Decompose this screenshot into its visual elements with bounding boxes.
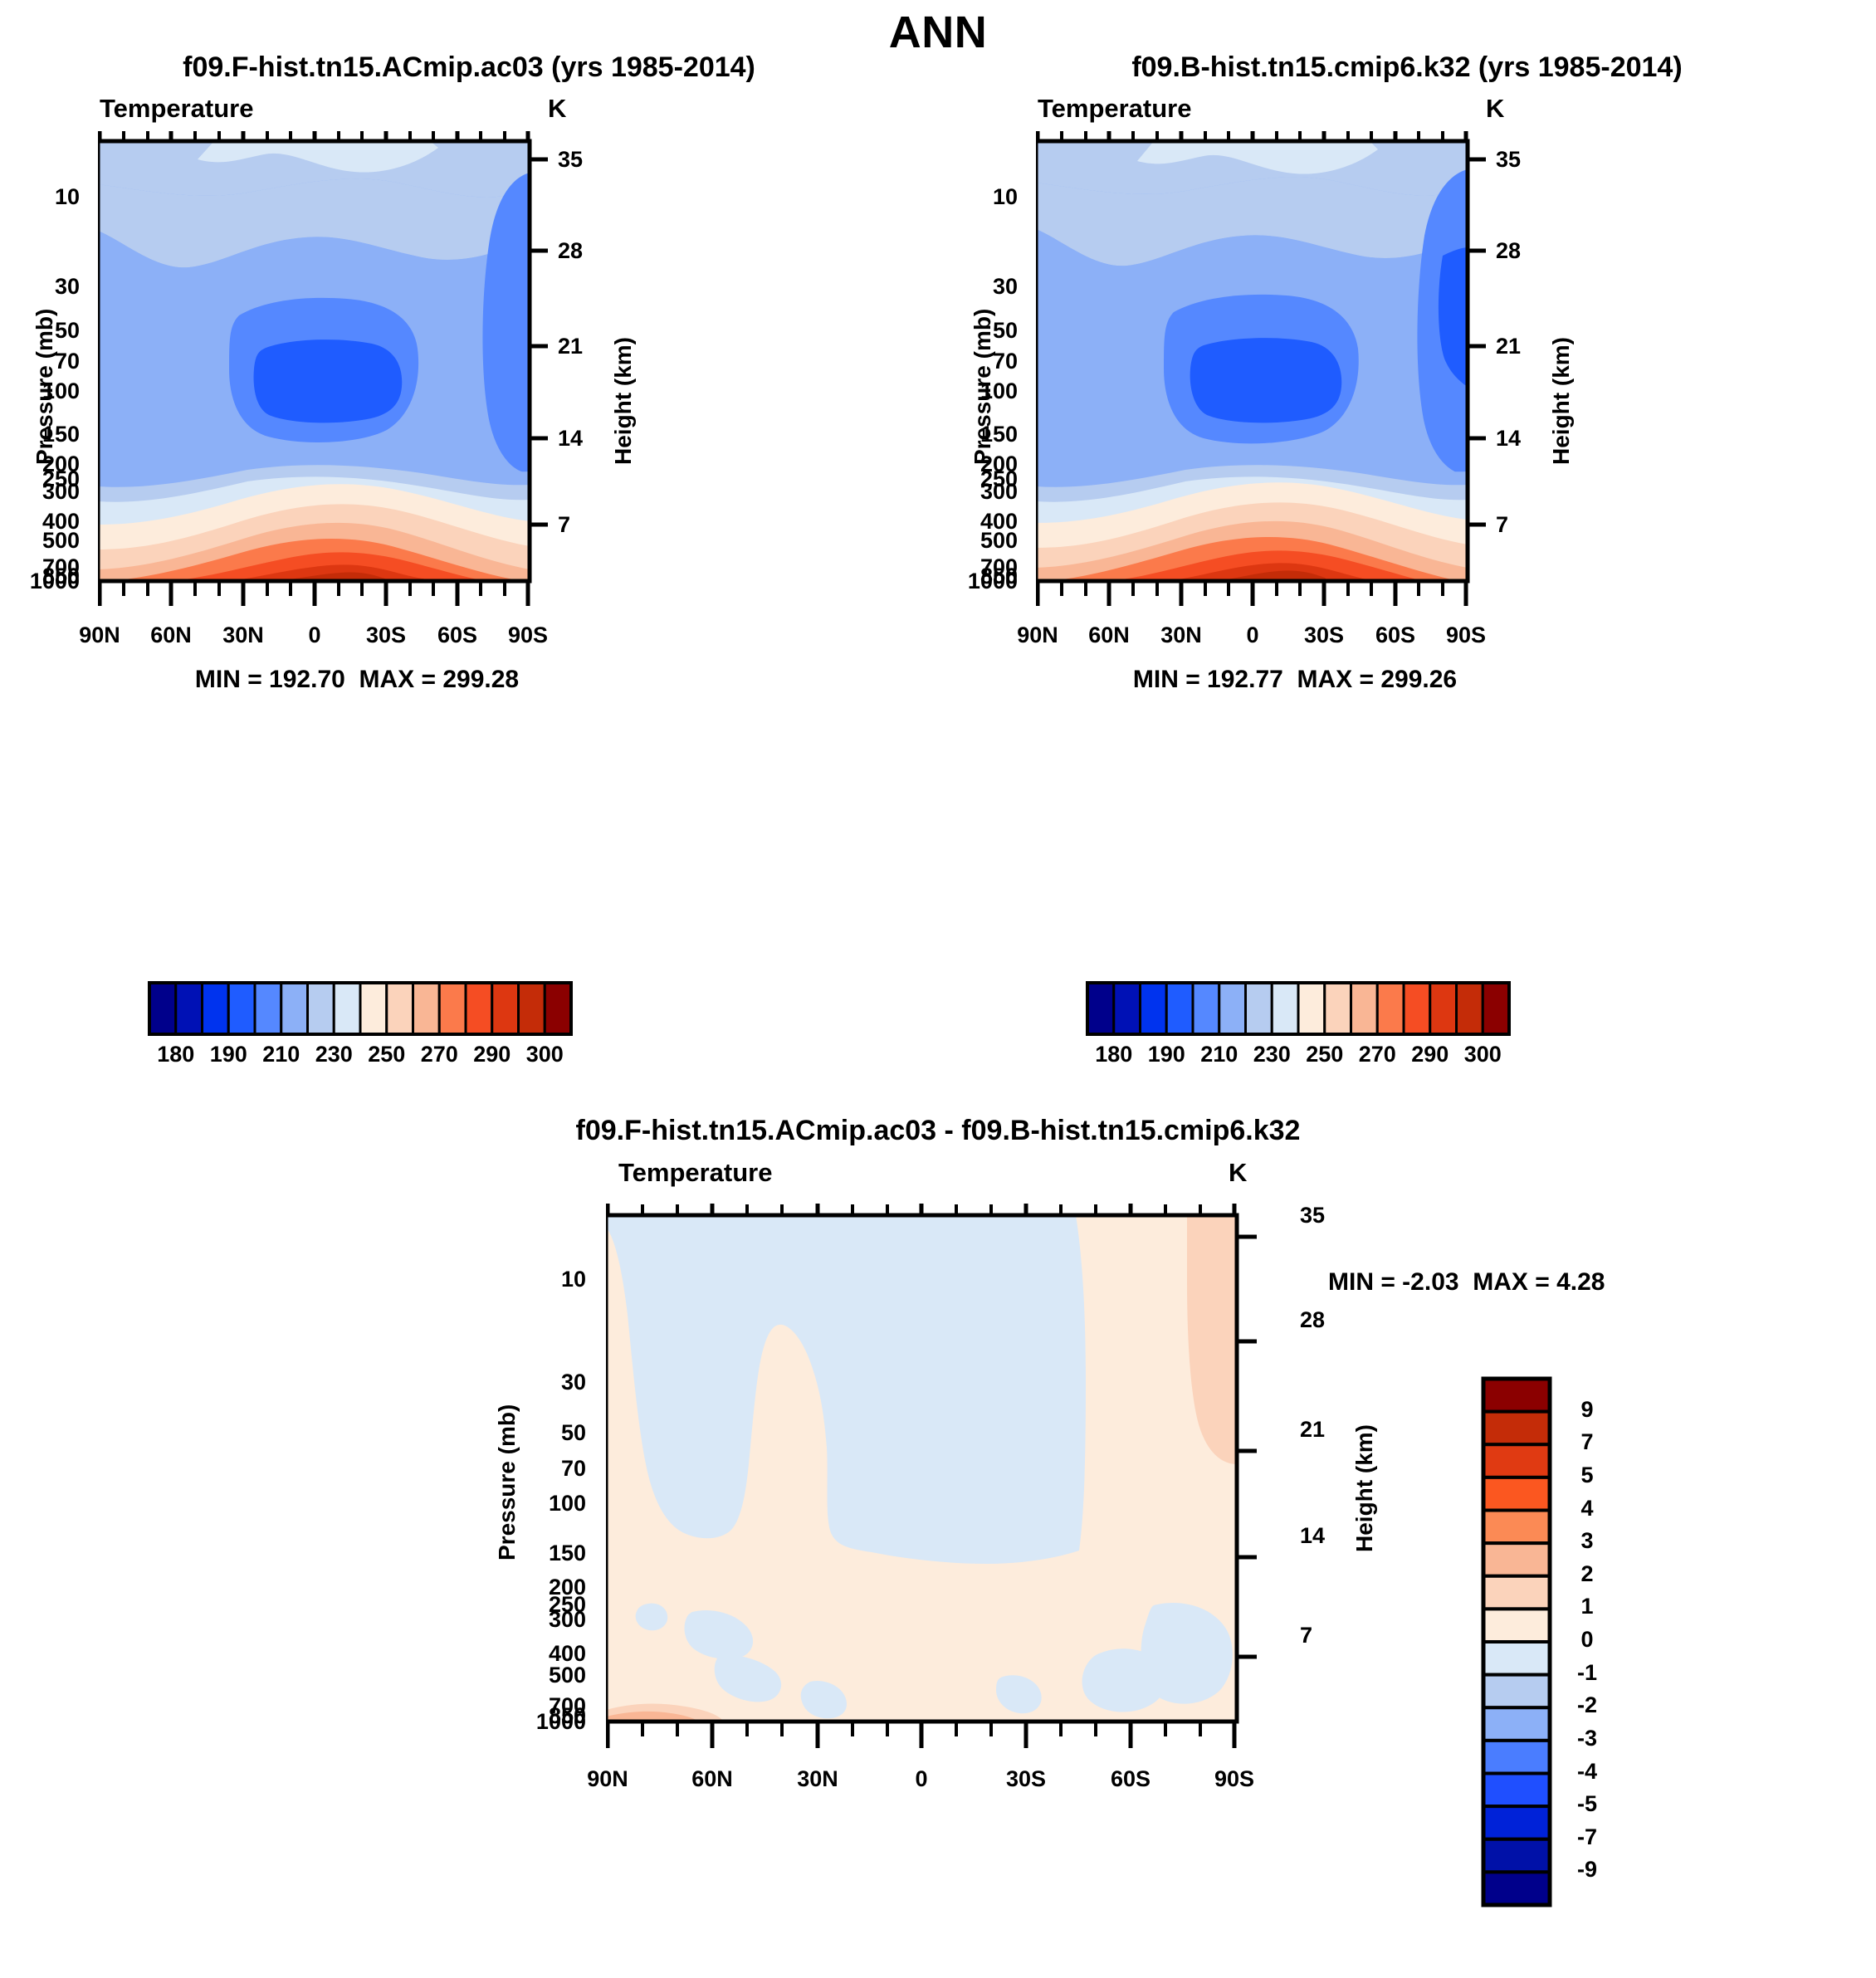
ticklabel: 10	[970, 184, 1018, 210]
colorbar-swatch	[334, 983, 360, 1034]
panel-diff-unit-label: K	[1229, 1158, 1247, 1188]
ticklabel: 10	[538, 1267, 586, 1292]
colorbar-ticklabel: 1	[1564, 1594, 1610, 1619]
panel-diff-max: MAX = 4.28	[1473, 1268, 1605, 1296]
ticklabel: 21	[558, 334, 583, 359]
colorbar-swatch	[1483, 1839, 1550, 1873]
colorbar-ticklabel: 5	[1564, 1463, 1610, 1488]
colorbar-swatch	[1483, 1412, 1550, 1445]
panel-right-bottom-ticks	[1038, 581, 1466, 606]
panel-diff: f09.F-hist.tn15.ACmip.ac03 - f09.B-hist.…	[0, 1087, 1876, 1978]
ticklabel: 70	[32, 349, 80, 374]
panel-diff-min: MIN = -2.03	[1328, 1268, 1459, 1296]
colorbar-ticklabel: 4	[1564, 1496, 1610, 1521]
colorbar-swatch	[1404, 983, 1430, 1034]
ticklabel: 300	[18, 479, 80, 505]
panel-diff-minmax: MIN = -2.03 MAX = 4.28	[1328, 1268, 1793, 1297]
ticklabel: 14	[1496, 426, 1521, 452]
colorbar-swatch	[1483, 983, 1509, 1034]
panel-left: f09.F-hist.tn15.ACmip.ac03 (yrs 1985-201…	[0, 0, 938, 1087]
colorbar-swatch	[1483, 1444, 1550, 1477]
colorbar-swatch	[255, 983, 281, 1034]
colorbar-left	[148, 981, 573, 1036]
ticklabel: 70	[538, 1456, 586, 1482]
ticklabel: 300	[525, 1607, 586, 1633]
colorbar-swatch	[466, 983, 492, 1034]
ticklabel: 35	[558, 147, 583, 173]
colorbar-ticklabel: -1	[1564, 1660, 1610, 1686]
panel-left-min: MIN = 192.70	[195, 666, 345, 693]
ticklabel: 10	[32, 184, 80, 210]
ticklabel: 30	[32, 274, 80, 300]
panel-right-unit-label: K	[1486, 94, 1504, 124]
colorbar-swatch	[1351, 983, 1378, 1034]
ticklabel: 0	[872, 1766, 971, 1792]
contour-field-left	[98, 141, 530, 581]
ticklabel: 21	[1496, 334, 1521, 359]
panel-left-title: f09.F-hist.tn15.ACmip.ac03 (yrs 1985-201…	[0, 51, 938, 84]
ticklabel: 500	[18, 528, 80, 554]
colorbar-swatch	[1114, 983, 1141, 1034]
colorbar-swatch	[1141, 983, 1167, 1034]
colorbar-swatch	[439, 983, 466, 1034]
ticklabel: 90S	[1416, 623, 1516, 648]
colorbar-ticklabel: 3	[1564, 1528, 1610, 1554]
colorbar-swatch	[1457, 983, 1483, 1034]
colorbar-diff-labels: 97543210-1-2-3-4-5-7-9	[1564, 1376, 1639, 1907]
colorbar-right	[1086, 981, 1511, 1036]
colorbar-swatch	[149, 983, 176, 1034]
colorbar-swatch	[1483, 1609, 1550, 1642]
ticklabel: 30	[970, 274, 1018, 300]
ticklabel: 60S	[1081, 1766, 1180, 1792]
ticklabel: 30S	[976, 1766, 1076, 1792]
colorbar-swatch	[1483, 1806, 1550, 1839]
colorbar-swatch	[1483, 1543, 1550, 1576]
colorbar-swatch	[203, 983, 229, 1034]
colorbar-ticklabel: 0	[1564, 1627, 1610, 1653]
panel-right: f09.B-hist.tn15.cmip6.k32 (yrs 1985-2014…	[938, 0, 1876, 1087]
colorbar-swatch	[413, 983, 440, 1034]
colorbar-swatch	[1219, 983, 1246, 1034]
colorbar-swatch	[1483, 1642, 1550, 1675]
colorbar-swatch	[1483, 1511, 1550, 1544]
ticklabel: 150	[956, 422, 1018, 447]
panel-right-min: MIN = 192.77	[1133, 666, 1283, 693]
ticklabel: 30	[538, 1370, 586, 1395]
colorbar-swatch	[1193, 983, 1219, 1034]
colorbar-swatch	[1325, 983, 1351, 1034]
ticklabel: 14	[1300, 1523, 1325, 1549]
ticklabel: 28	[1300, 1307, 1325, 1333]
panel-diff-pressure-axis-label: Pressure (mb)	[494, 1404, 520, 1560]
colorbar-ticklabel: 9	[1564, 1397, 1610, 1423]
colorbar-right-swatches	[1086, 981, 1511, 1036]
colorbar-swatch	[1298, 983, 1325, 1034]
panel-right-max: MAX = 299.26	[1297, 666, 1457, 693]
colorbar-ticklabel: -3	[1564, 1726, 1610, 1751]
panel-right-height-axis-label: Height (km)	[1548, 337, 1575, 465]
colorbar-swatch	[1430, 983, 1457, 1034]
colorbar-swatch	[492, 983, 519, 1034]
colorbar-swatch	[1483, 1477, 1550, 1511]
ticklabel: 50	[970, 318, 1018, 344]
ticklabel: 90S	[1185, 1766, 1284, 1792]
ticklabel: 300	[956, 479, 1018, 505]
ticklabel: 100	[18, 379, 80, 404]
colorbar-right-labels: 180190210230250270290300	[1086, 1040, 1511, 1073]
ticklabel: 100	[525, 1491, 586, 1516]
panel-left-bottom-ticks	[100, 581, 528, 606]
ticklabel: 150	[525, 1541, 586, 1566]
ticklabel: 100	[956, 379, 1018, 404]
colorbar-swatch	[1272, 983, 1298, 1034]
colorbar-ticklabel: -9	[1564, 1857, 1610, 1883]
ticklabel: 35	[1300, 1203, 1325, 1228]
panel-right-minmax: MIN = 192.77 MAX = 299.26	[1063, 666, 1527, 694]
ticklabel: 50	[538, 1420, 586, 1446]
panel-diff-height-axis-label: Height (km)	[1351, 1424, 1378, 1552]
panel-left-height-ticks	[530, 159, 548, 525]
ticklabel: 60N	[662, 1766, 762, 1792]
colorbar-diff-swatches	[1481, 1376, 1552, 1907]
colorbar-ticklabel: -7	[1564, 1824, 1610, 1850]
panel-left-max: MAX = 299.28	[359, 666, 519, 693]
ticklabel: 1000	[3, 569, 80, 594]
ticklabel: 90S	[478, 623, 578, 648]
colorbar-swatch	[1483, 1379, 1550, 1412]
ticklabel: 150	[18, 422, 80, 447]
panel-left-unit-label: K	[548, 94, 566, 124]
colorbar-swatch	[1483, 1707, 1550, 1741]
ticklabel: 7	[1300, 1623, 1312, 1648]
colorbar-swatch	[1483, 1872, 1550, 1905]
colorbar-swatch	[228, 983, 255, 1034]
panel-left-variable-label: Temperature	[100, 94, 254, 124]
ticklabel: 7	[1496, 512, 1508, 538]
ticklabel: 35	[1496, 147, 1521, 173]
ticklabel: 30N	[768, 1766, 867, 1792]
colorbar-swatch	[281, 983, 308, 1034]
colorbar-swatch	[1483, 1675, 1550, 1708]
panel-left-height-axis-label: Height (km)	[610, 337, 637, 465]
ticklabel: 28	[1496, 238, 1521, 264]
colorbar-swatch	[176, 983, 203, 1034]
colorbar-ticklabel: 2	[1564, 1561, 1610, 1587]
panel-diff-title: f09.F-hist.tn15.ACmip.ac03 - f09.B-hist.…	[0, 1115, 1876, 1147]
ticklabel: 500	[956, 528, 1018, 554]
ticklabel: 1000	[510, 1709, 586, 1735]
colorbar-swatch	[545, 983, 571, 1034]
colorbar-swatch	[1087, 983, 1114, 1034]
colorbar-swatch	[1166, 983, 1193, 1034]
panel-right-title: f09.B-hist.tn15.cmip6.k32 (yrs 1985-2014…	[938, 51, 1876, 84]
ticklabel: 1000	[941, 569, 1018, 594]
ticklabel: 7	[558, 512, 570, 538]
ticklabel: 500	[525, 1663, 586, 1688]
ticklabel: 21	[1300, 1417, 1325, 1443]
ticklabel: 90N	[558, 1766, 657, 1792]
colorbar-ticklabel: 300	[1449, 1042, 1516, 1067]
colorbar-swatch	[519, 983, 545, 1034]
colorbar-diff	[1481, 1376, 1552, 1907]
ticklabel: 70	[970, 349, 1018, 374]
panel-diff-variable-label: Temperature	[618, 1158, 773, 1188]
colorbar-swatch	[387, 983, 413, 1034]
colorbar-swatch	[360, 983, 387, 1034]
colorbar-ticklabel: -2	[1564, 1692, 1610, 1718]
colorbar-swatch	[1483, 1741, 1550, 1774]
ticklabel: 50	[32, 318, 80, 344]
panel-right-height-ticks	[1468, 159, 1486, 525]
colorbar-swatch	[1483, 1774, 1550, 1807]
contour-field-diff	[606, 1215, 1237, 1722]
colorbar-ticklabel: -5	[1564, 1791, 1610, 1817]
panel-diff-plot	[606, 1204, 1287, 1834]
panel-diff-bottom-ticks	[608, 1722, 1234, 1748]
colorbar-ticklabel: 300	[511, 1042, 578, 1067]
ticklabel: 28	[558, 238, 583, 264]
colorbar-swatch	[1377, 983, 1404, 1034]
colorbar-ticklabel: 7	[1564, 1429, 1610, 1455]
colorbar-ticklabel: -4	[1564, 1759, 1610, 1785]
colorbar-swatch	[1246, 983, 1273, 1034]
ticklabel: 14	[558, 426, 583, 452]
colorbar-left-swatches	[148, 981, 573, 1036]
panel-right-variable-label: Temperature	[1038, 94, 1192, 124]
colorbar-left-labels: 180190210230250270290300	[148, 1040, 573, 1073]
panel-diff-height-ticks	[1237, 1237, 1257, 1657]
colorbar-swatch	[1483, 1576, 1550, 1609]
contour-field-right	[1036, 141, 1468, 581]
panel-left-minmax: MIN = 192.70 MAX = 299.28	[125, 666, 589, 694]
colorbar-swatch	[308, 983, 335, 1034]
